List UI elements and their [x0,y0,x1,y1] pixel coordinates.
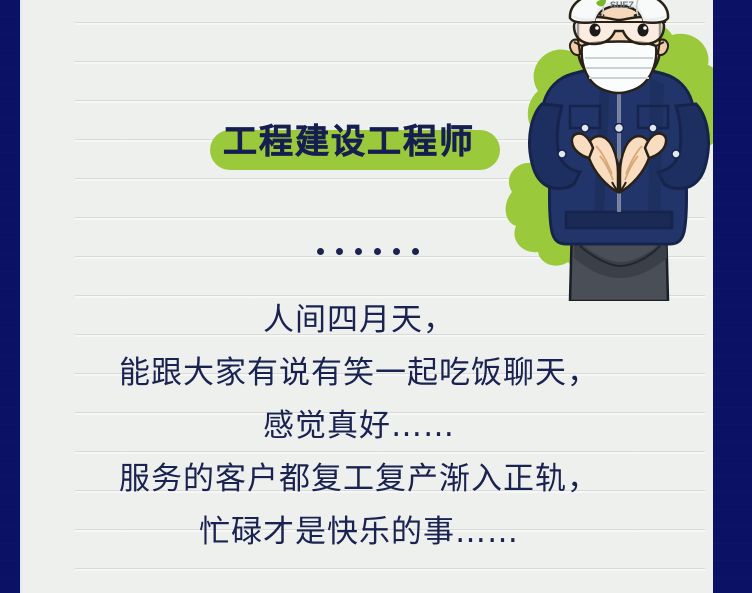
left-navy-band [0,0,20,593]
ellipsis-dots [22,248,713,255]
eye-left [590,24,601,37]
ellipsis-dot [412,248,419,255]
poster-title: 工程建设工程师 [204,118,504,176]
engineer-illustration: SUEZ [500,0,713,301]
ellipsis-dot [336,248,343,255]
ellipsis-dot [355,248,362,255]
poster-canvas: SUEZ 工程建设工程师 [0,0,752,593]
right-navy-band [713,0,752,593]
svg-text:SUEZ: SUEZ [610,0,635,10]
body-line: 服务的客户都复工复产渐入正轨， [44,453,674,506]
body-line: 人间四月天， [44,294,674,347]
rule-line [75,568,705,571]
body-line: 能跟大家有说有笑一起吃饭聊天， [44,347,674,400]
poster-body-text: 人间四月天，能跟大家有说有笑一起吃饭聊天，感觉真好……服务的客户都复工复产渐入正… [44,294,674,559]
body-line: 忙碌才是快乐的事…… [44,506,674,559]
body-line: 感觉真好…… [44,400,674,453]
ellipsis-dot [374,248,381,255]
jacket-waistband [566,212,672,228]
eye-right [638,24,649,37]
title-text: 工程建设工程师 [204,118,494,166]
ellipsis-dot [393,248,400,255]
paper-sheet: SUEZ 工程建设工程师 [22,0,713,593]
ellipsis-dot [317,248,324,255]
